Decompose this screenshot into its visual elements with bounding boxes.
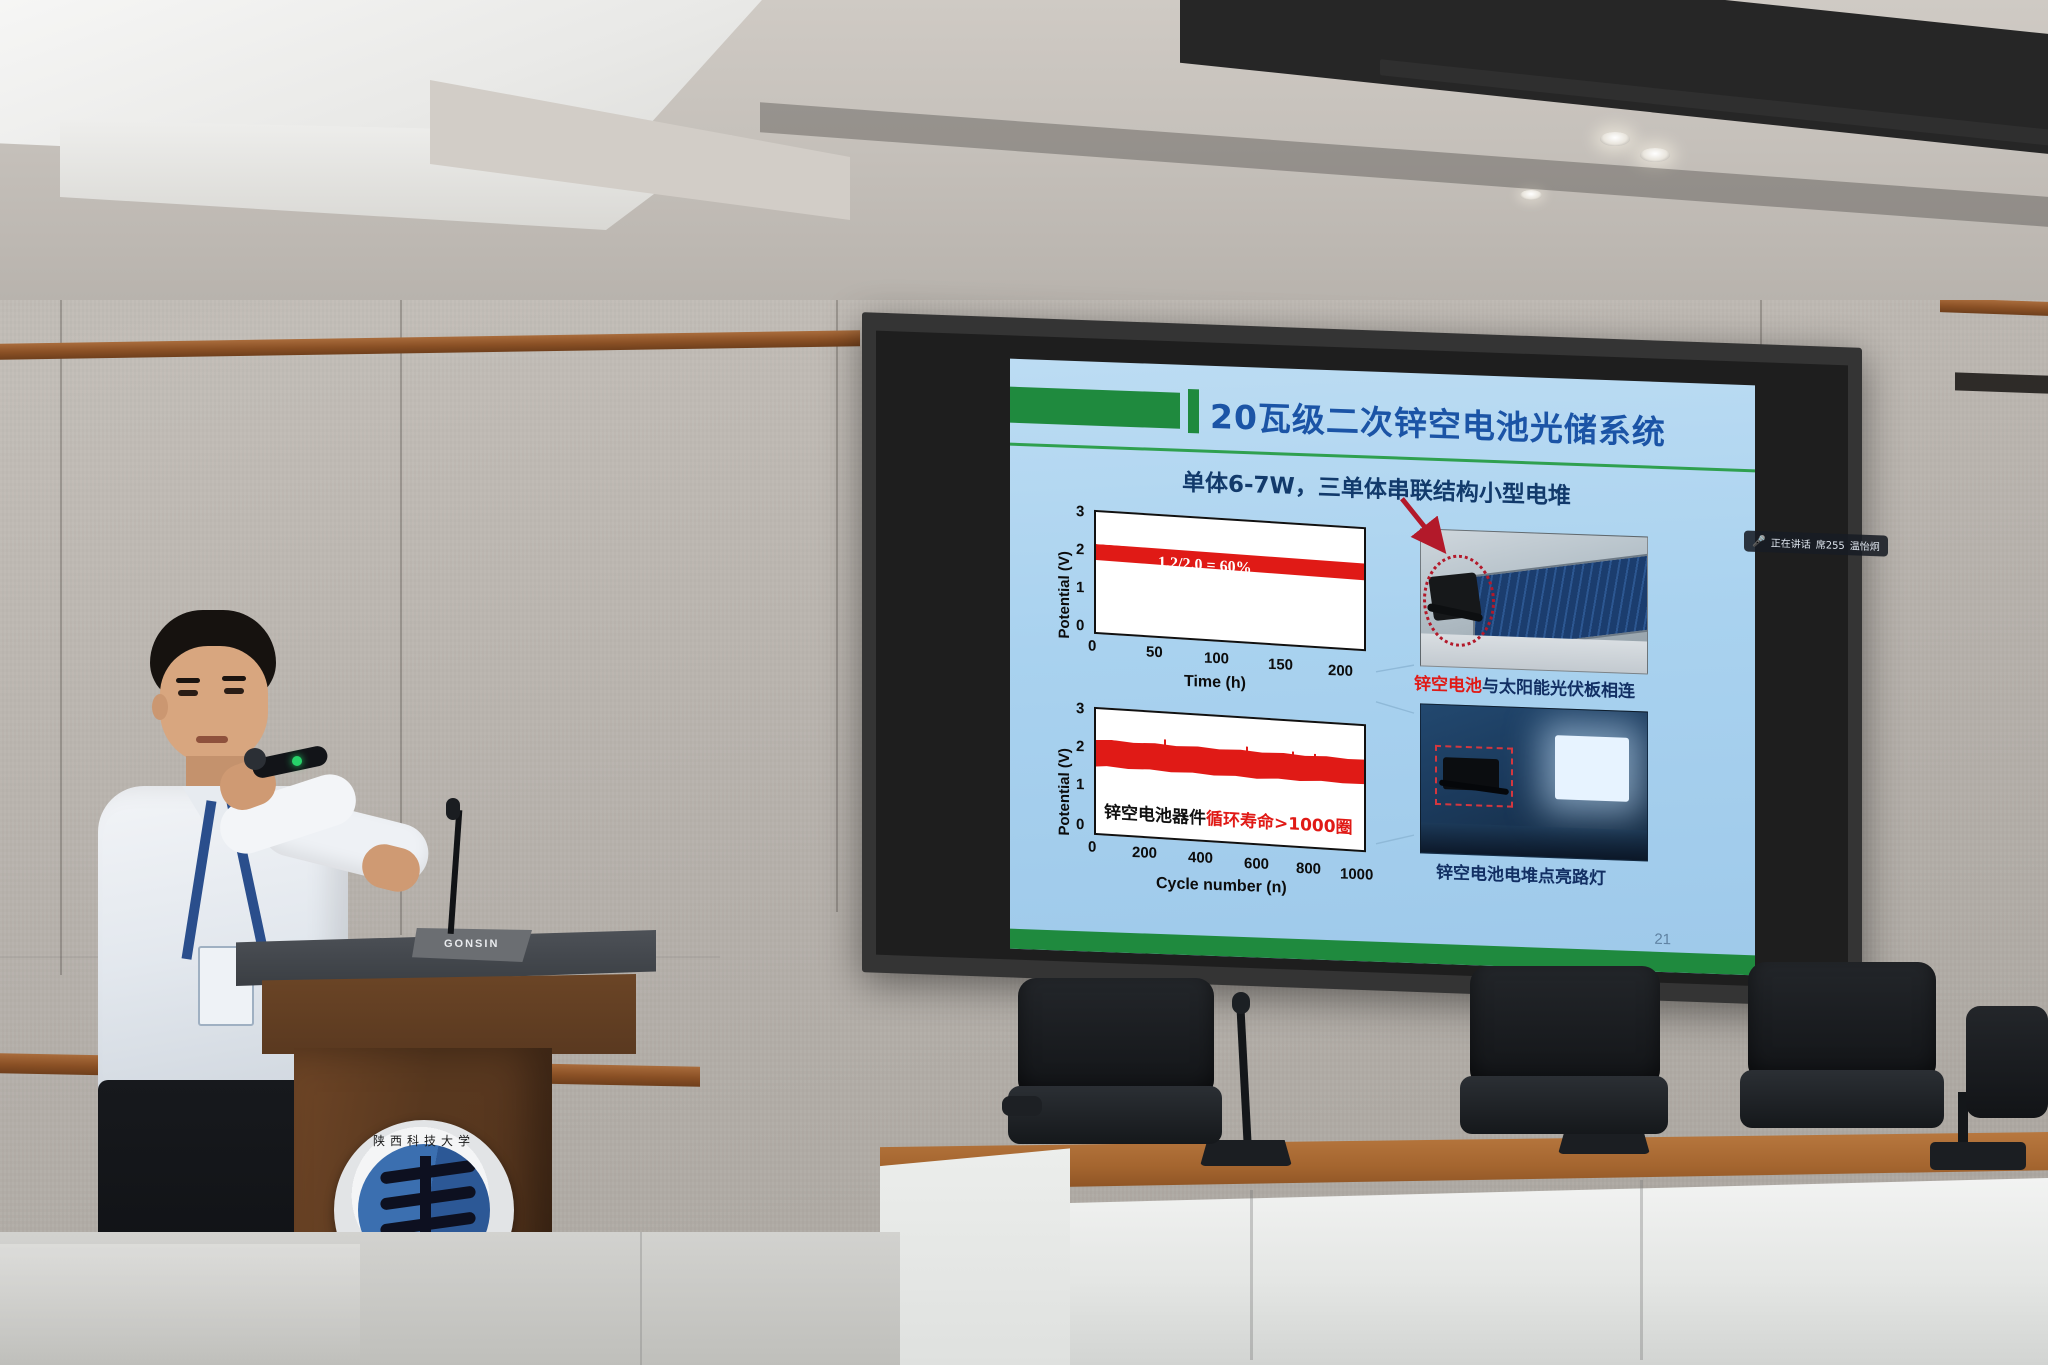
chair-backrest — [1748, 962, 1936, 1082]
floor-reflection — [0, 1244, 360, 1365]
conference-room-scene: 20瓦级二次锌空电池光储系统 单体6-7W，三单体串联结构小型电堆 Potent… — [0, 0, 2048, 1365]
presenter-eye — [178, 690, 198, 696]
chair-seat — [1008, 1086, 1222, 1144]
presentation-slide: 20瓦级二次锌空电池光储系统 单体6-7W，三单体串联结构小型电堆 Potent… — [1010, 359, 1755, 976]
emblem-text-cn: 陕西科技大学 — [334, 1132, 514, 1149]
presenter-eyebrow — [222, 676, 246, 681]
ceiling-downlight — [1640, 148, 1670, 162]
chair-seat — [1740, 1070, 1944, 1128]
wall-seam — [60, 215, 62, 975]
chair-center[interactable] — [1460, 966, 1672, 1156]
presenter-mouth — [196, 736, 228, 743]
lectern-body — [262, 974, 636, 1054]
wall-seam — [836, 212, 838, 912]
badge-seat: 席255 — [1816, 536, 1845, 552]
badge-status: 正在讲话 — [1771, 534, 1811, 550]
badge-speaker-name: 温怡炯 — [1850, 537, 1880, 553]
chair-backrest — [1018, 978, 1214, 1098]
floor-tile-seam — [640, 1232, 642, 1365]
desk-left-return — [880, 1144, 1070, 1365]
presenter-eyebrow — [176, 678, 200, 683]
chair-seat — [1460, 1076, 1668, 1134]
chair-backrest — [1966, 1006, 2048, 1118]
chair-backrest — [1470, 966, 1660, 1088]
ceiling-downlight — [1520, 190, 1542, 200]
presenter-eye — [224, 688, 244, 694]
chair-left[interactable] — [1008, 978, 1228, 1164]
chair-right[interactable] — [1740, 962, 1948, 1150]
presenter-face — [160, 646, 268, 764]
desk-mic-1-head — [1232, 992, 1250, 1014]
desk-panel-seam — [1250, 1190, 1253, 1360]
microphone-led — [292, 756, 302, 766]
lectern-microphone-head — [446, 798, 460, 820]
callout-arrows — [1010, 359, 1755, 976]
chair-far-right[interactable] — [1966, 1006, 2048, 1156]
microphone-icon: 🎤 — [1752, 535, 1766, 548]
wall-reveal — [1955, 372, 2048, 393]
ceiling-downlight — [1600, 132, 1630, 146]
chair-armrest — [1002, 1096, 1042, 1116]
lectern-microphone-brand: GONSIN — [444, 938, 499, 950]
handheld-microphone-head — [244, 748, 266, 770]
slide-page-number: 21 — [1654, 931, 1671, 949]
desk-panel-seam — [1640, 1180, 1643, 1360]
presenter-ear — [152, 694, 168, 720]
